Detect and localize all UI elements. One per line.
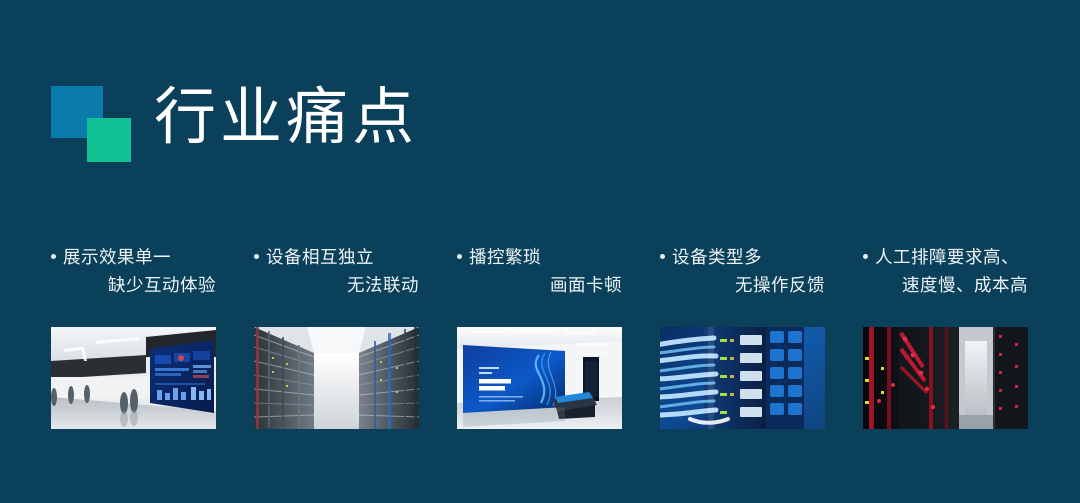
pain-point-item-1: 展示效果单一 缺少互动体验 xyxy=(51,243,216,299)
pain-point-line1: 展示效果单一 xyxy=(63,243,171,271)
pain-point-line1: 设备相互独立 xyxy=(266,243,374,271)
pain-point-line1: 播控繁琐 xyxy=(469,243,541,271)
pain-point-line2: 速度慢、成本高 xyxy=(863,271,1028,299)
pain-point-item-3: 播控繁琐 画面卡顿 xyxy=(457,243,622,299)
pain-points-text-row: 展示效果单一 缺少互动体验 设备相互独立 无法联动 播控繁琐 画面卡顿 xyxy=(51,243,1041,299)
logo-square-green-icon xyxy=(87,118,131,162)
bullet-dot-icon xyxy=(660,254,665,259)
thumbnail-data-center-server-aisle xyxy=(254,327,419,429)
pain-point-line2: 无法联动 xyxy=(254,271,419,299)
bullet-dot-icon xyxy=(863,254,868,259)
pain-point-line2: 画面卡顿 xyxy=(457,271,622,299)
pain-point-line1: 设备类型多 xyxy=(672,243,762,271)
data-center-server-aisle-icon xyxy=(254,327,419,429)
pain-point-line2: 缺少互动体验 xyxy=(51,271,216,299)
exhibition-hall-led-video-wall-icon xyxy=(51,327,216,429)
bullet-dot-icon xyxy=(254,254,259,259)
showroom-blue-led-wall-console-icon xyxy=(457,327,622,429)
pain-point-line2: 无操作反馈 xyxy=(660,271,825,299)
network-switch-blue-patch-cables-icon xyxy=(660,327,825,429)
page-title: 行业痛点 xyxy=(154,82,418,154)
pain-point-line1: 人工排障要求高、 xyxy=(875,243,1019,271)
thumbnail-exhibition-hall-led-video-wall xyxy=(51,327,216,429)
bullet-dot-icon xyxy=(51,254,56,259)
pain-point-item-2: 设备相互独立 无法联动 xyxy=(254,243,419,299)
pain-point-item-4: 设备类型多 无操作反馈 xyxy=(660,243,825,299)
bullet-dot-icon xyxy=(457,254,462,259)
pain-points-image-row xyxy=(51,327,1041,429)
slide-root: 行业痛点 展示效果单一 缺少互动体验 设备相互独立 无法联动 xyxy=(0,0,1080,503)
thumbnail-network-switch-blue-patch-cables xyxy=(660,327,825,429)
pain-point-item-5: 人工排障要求高、 速度慢、成本高 xyxy=(863,243,1028,299)
title-block: 行业痛点 xyxy=(51,86,551,176)
dark-server-room-red-cabling-icon xyxy=(863,327,1028,429)
thumbnail-showroom-blue-led-wall-console xyxy=(457,327,622,429)
logo-mark xyxy=(51,86,139,166)
thumbnail-dark-server-room-red-cabling xyxy=(863,327,1028,429)
